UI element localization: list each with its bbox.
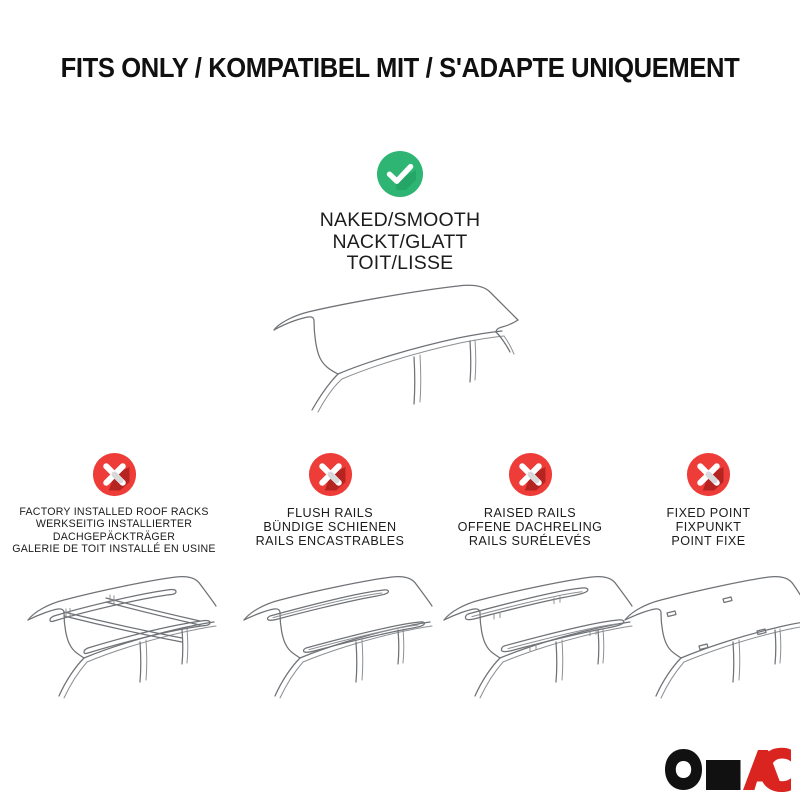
omac-wordmark xyxy=(664,748,792,792)
cross-circle-icon xyxy=(686,452,731,497)
roof-type-label: FIXED POINT FIXPUNKT POINT FIXE xyxy=(617,506,800,549)
roof-type-flush-rails: FLUSH RAILS BÜNDIGE SCHIENEN RAILS ENCAS… xyxy=(222,452,438,549)
roof-type-raised-rails: RAISED RAILS OFFENE DACHRELING RAILS SUR… xyxy=(425,452,635,549)
roof-type-label: FACTORY INSTALLED ROOF RACKS WERKSEITIG … xyxy=(0,506,228,555)
roof-type-factory-installed-roof-racks: FACTORY INSTALLED ROOF RACKS WERKSEITIG … xyxy=(0,452,228,555)
compatible-roof-type-block: NAKED/SMOOTH NACKT/GLATT TOIT/LISSE xyxy=(0,150,800,275)
omac-logo xyxy=(664,748,792,792)
compatible-roof-type-label: NAKED/SMOOTH NACKT/GLATT TOIT/LISSE xyxy=(0,210,800,275)
roof-type-fixed-point: FIXED POINT FIXPUNKT POINT FIXE xyxy=(617,452,800,549)
page-title: FITS ONLY / KOMPATIBEL MIT / S'ADAPTE UN… xyxy=(28,52,772,84)
cross-circle-icon xyxy=(92,452,137,497)
roof-with-fixed-points-illustration xyxy=(611,550,800,700)
roof-with-flush-rails-illustration xyxy=(226,550,434,700)
roof-with-raised-rails-illustration xyxy=(426,550,634,700)
cross-badge-wrap xyxy=(425,452,635,497)
roof-type-label: FLUSH RAILS BÜNDIGE SCHIENEN RAILS ENCAS… xyxy=(222,506,438,549)
bare-smooth-roof-illustration xyxy=(262,278,562,413)
check-badge-wrap xyxy=(0,150,800,198)
check-circle-icon xyxy=(376,150,424,198)
cross-badge-wrap xyxy=(0,452,228,497)
cross-badge-wrap xyxy=(617,452,800,497)
roof-type-label: RAISED RAILS OFFENE DACHRELING RAILS SUR… xyxy=(425,506,635,549)
cross-circle-icon xyxy=(308,452,353,497)
cross-badge-wrap xyxy=(222,452,438,497)
roof-with-factory-crossbars-illustration xyxy=(10,550,218,700)
cross-circle-icon xyxy=(508,452,553,497)
